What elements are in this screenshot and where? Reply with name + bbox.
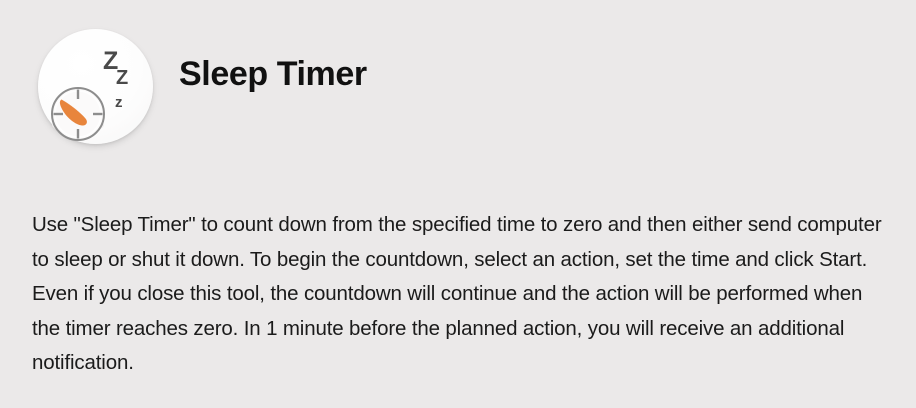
description-text: Use "Sleep Timer" to count down from the… xyxy=(32,208,888,381)
zzz-small-icon: z xyxy=(115,94,123,111)
page-title: Sleep Timer xyxy=(179,52,367,96)
sleep-timer-icon: Z Z z xyxy=(38,29,153,144)
panel-header: Z Z z Sleep Timer xyxy=(0,0,916,180)
zzz-medium-icon: Z xyxy=(116,67,128,89)
sleep-timer-info-panel: Z Z z Sleep Timer Use "Sleep Timer" to c… xyxy=(0,0,916,408)
clock-with-zzz-icon: Z Z z xyxy=(38,29,153,144)
